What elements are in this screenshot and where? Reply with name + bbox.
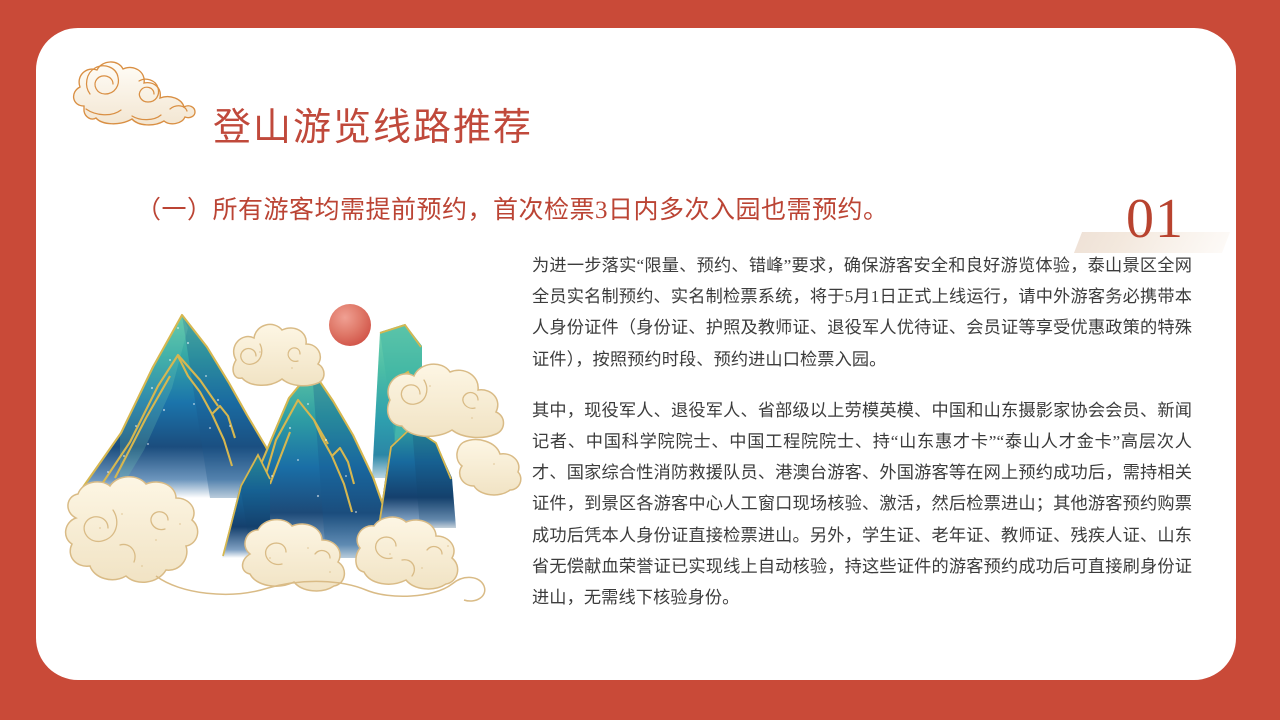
section-number: 01 [1126,188,1184,250]
chinese-mountain-landscape-illustration [60,228,530,628]
slide-card: 登山游览线路推荐 （一）所有游客均需提前预约，首次检票3日内多次入园也需预约。 … [36,28,1236,680]
page-title: 登山游览线路推荐 [213,96,533,151]
auspicious-cloud-icon [66,54,198,134]
section-subtitle: （一）所有游客均需提前预约，首次检票3日内多次入园也需预约。 [136,190,889,226]
slide-header: 登山游览线路推荐 [36,28,1236,148]
body-paragraph: 其中，现役军人、退役军人、省部级以上劳模英模、中国和山东摄影家协会会员、新闻记者… [532,395,1192,613]
red-sun-icon [329,304,371,346]
body-copy: 为进一步落实“限量、预约、错峰”要求，确保游客安全和良好游览体验，泰山景区全网全… [532,250,1192,613]
body-paragraph: 为进一步落实“限量、预约、错峰”要求，确保游客安全和良好游览体验，泰山景区全网全… [532,250,1192,375]
